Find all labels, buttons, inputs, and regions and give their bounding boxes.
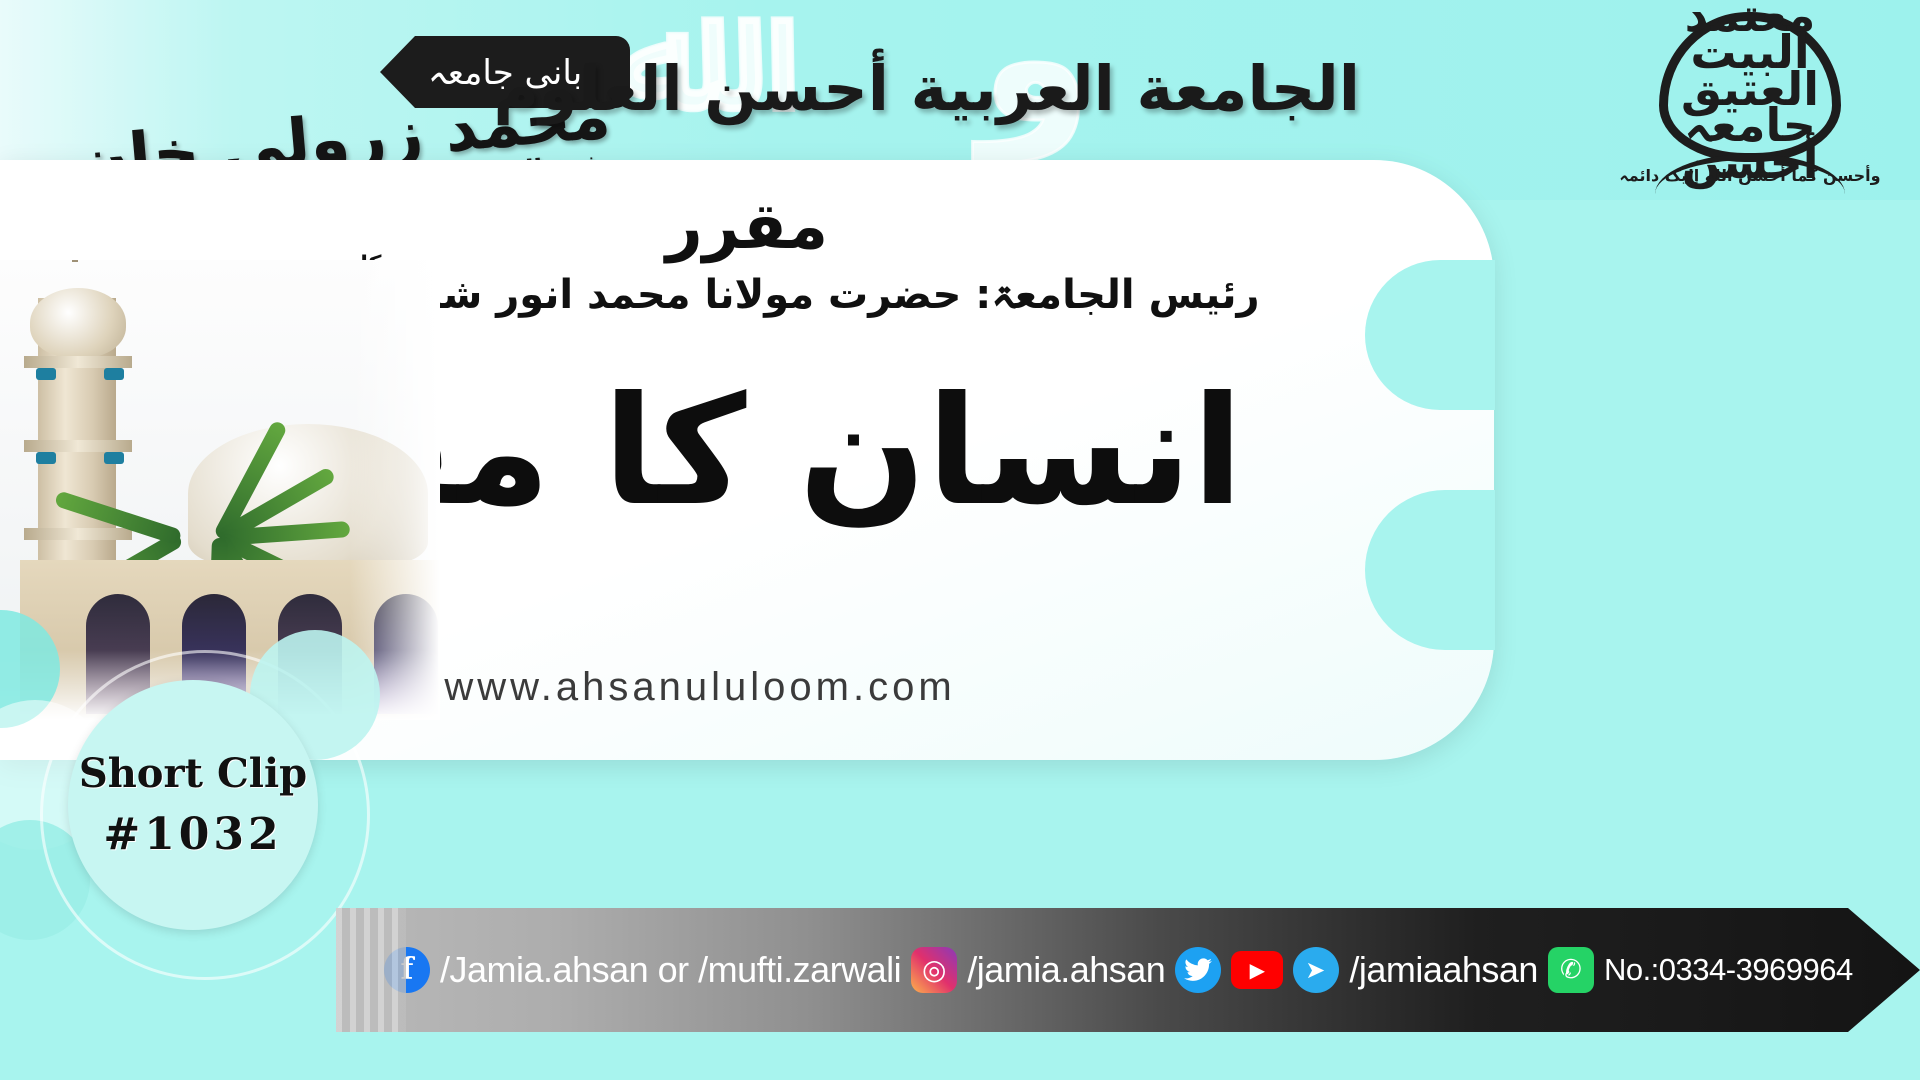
- facebook-handle[interactable]: /Jamia.ahsan or /mufti.zarwali: [440, 949, 901, 991]
- minaret-balcony-1: [24, 356, 132, 368]
- whatsapp-number[interactable]: No.:0334-3969964: [1604, 952, 1853, 988]
- minaret-balcony-3: [24, 528, 132, 540]
- minaret-speaker-4: [104, 452, 124, 464]
- mosque-photo: [0, 260, 440, 720]
- minaret-finial: [72, 260, 78, 262]
- minaret-speaker-2: [104, 368, 124, 380]
- poster-canvas: ﷲ ﻭ بانی جامعہ محمد زرولی خان شیخ الحدیث…: [0, 0, 1920, 1080]
- badge-title: Short Clip: [79, 750, 307, 797]
- whatsapp-icon[interactable]: ✆: [1548, 947, 1594, 993]
- minaret-balcony-2: [24, 440, 132, 452]
- badge-number: #1032: [103, 809, 282, 860]
- instagram-handle[interactable]: /jamia.ahsan: [967, 949, 1165, 991]
- speaker-heading: مقرر: [0, 190, 1494, 264]
- minaret-speaker-3: [36, 452, 56, 464]
- logo-calligraphy-text: معتمد البیت العتیق جامعہ أحسن: [1635, 30, 1865, 148]
- minaret-dome: [30, 288, 126, 358]
- social-bar-left-cap: [336, 908, 406, 1032]
- telegram-handle[interactable]: /jamiaahsan: [1349, 949, 1538, 991]
- social-links-group: f /Jamia.ahsan or /mufti.zarwali ◎ /jami…: [336, 947, 1853, 993]
- institute-name: الجامعة العربية أحسن العلوم: [560, 52, 1360, 125]
- twitter-icon[interactable]: [1175, 947, 1221, 993]
- logo-ribbon-text: وأحسن کما أحسن الله إلیک دائمہ: [1619, 166, 1880, 185]
- social-media-bar: f /Jamia.ahsan or /mufti.zarwali ◎ /jami…: [336, 908, 1920, 1032]
- minaret-speaker-1: [36, 368, 56, 380]
- institute-logo: معتمد البیت العتیق جامعہ أحسن وأحسن کما …: [1635, 8, 1865, 193]
- telegram-icon[interactable]: ➤: [1293, 947, 1339, 993]
- short-clip-badge: Short Clip #1032: [68, 680, 318, 930]
- youtube-icon[interactable]: ▶: [1231, 951, 1283, 989]
- instagram-icon[interactable]: ◎: [911, 947, 957, 993]
